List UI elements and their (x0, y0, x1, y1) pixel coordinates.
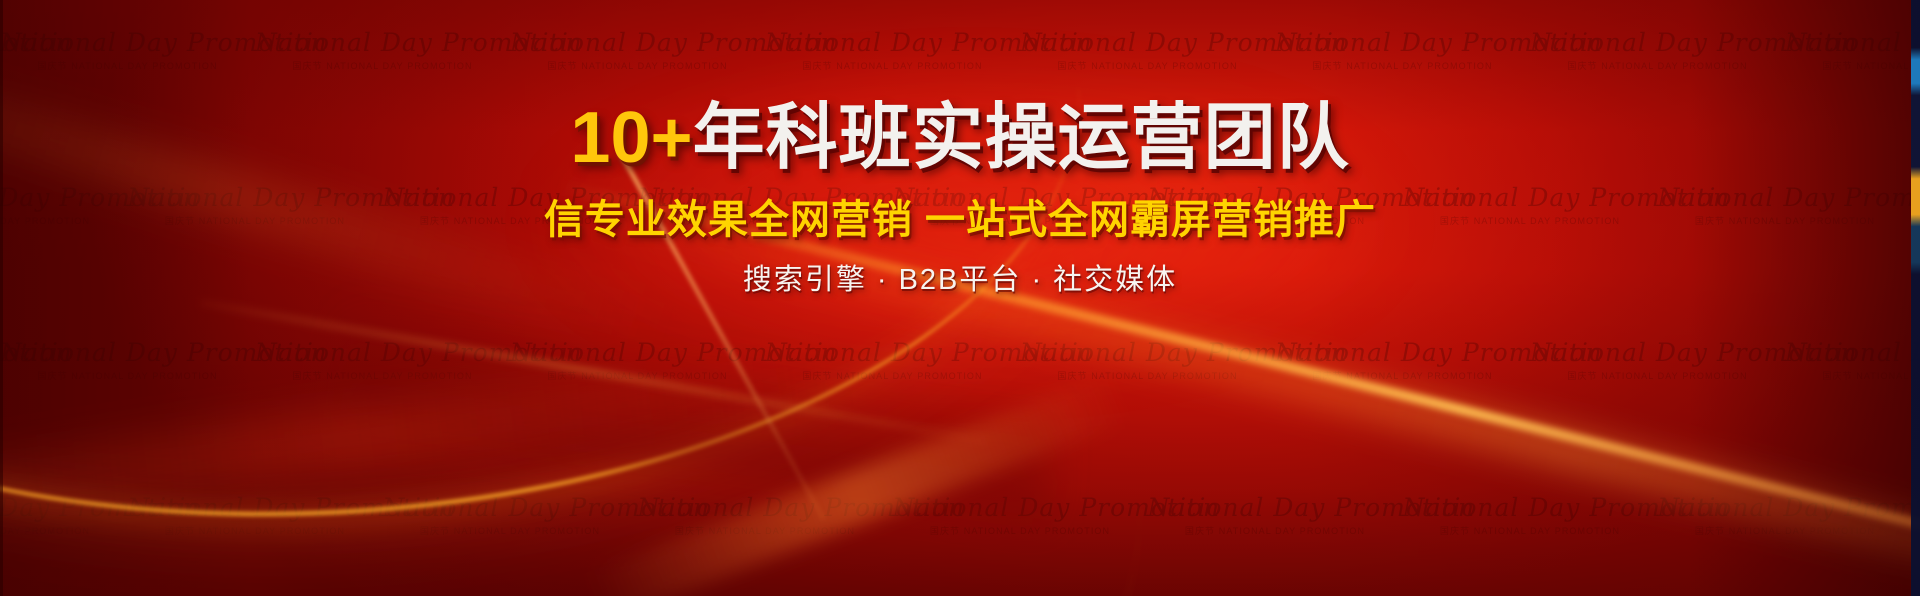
subline: 信专业效果全网营销 一站式全网霸屏营销推广 (544, 200, 1376, 240)
promotional-banner: National Day Promotion国庆节 NATIONAL DAY P… (0, 0, 1920, 596)
headline-text: 年科班实操运营团队 (693, 98, 1350, 178)
left-edge-shadow (0, 0, 3, 596)
banner-content: 10+年科班实操运营团队 信专业效果全网营销 一站式全网霸屏营销推广 搜索引擎 … (0, 0, 1920, 596)
adjacent-slide-sliver[interactable] (1911, 0, 1920, 596)
headline: 10+年科班实操运营团队 (570, 102, 1349, 174)
headline-number: 10+ (570, 98, 692, 178)
tagline: 搜索引擎 · B2B平台 · 社交媒体 (743, 266, 1177, 295)
